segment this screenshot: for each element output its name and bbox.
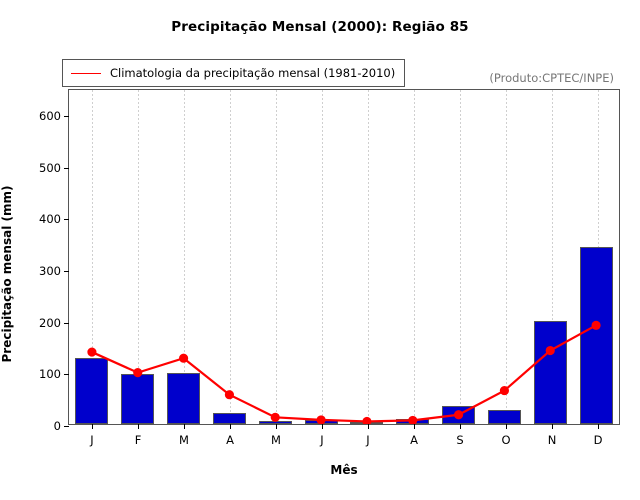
x-tick-mark <box>92 424 93 429</box>
legend-item-label: Climatologia da precipitação mensal (198… <box>110 66 395 80</box>
y-tick-mark <box>64 116 69 117</box>
y-tick-label: 300 <box>1 264 69 278</box>
x-tick-label: N <box>532 433 572 447</box>
x-tick-label: J <box>348 433 388 447</box>
x-tick-label: S <box>440 433 480 447</box>
x-tick-label: A <box>210 433 250 447</box>
x-tick-mark <box>598 424 599 429</box>
y-tick-mark <box>64 219 69 220</box>
x-tick-mark <box>368 424 369 429</box>
x-tick-label: F <box>118 433 158 447</box>
x-tick-label: M <box>164 433 204 447</box>
climatology-point <box>454 410 463 419</box>
y-tick-label: 400 <box>1 212 69 226</box>
x-tick-label: J <box>72 433 112 447</box>
climatology-line-series <box>69 90 619 424</box>
x-tick-label: M <box>256 433 296 447</box>
climatology-point <box>500 386 509 395</box>
x-tick-mark <box>322 424 323 429</box>
y-tick-mark <box>64 426 69 427</box>
x-tick-mark <box>552 424 553 429</box>
x-tick-mark <box>138 424 139 429</box>
climatology-point <box>592 321 601 330</box>
x-tick-mark <box>184 424 185 429</box>
climatology-point <box>362 417 371 424</box>
climatology-point <box>408 416 417 424</box>
y-tick-mark <box>64 323 69 324</box>
y-tick-mark <box>64 271 69 272</box>
x-tick-mark <box>460 424 461 429</box>
legend-line-icon <box>71 73 101 74</box>
x-tick-mark <box>276 424 277 429</box>
climatology-point <box>546 346 555 355</box>
climatology-point <box>271 413 280 422</box>
y-tick-label: 100 <box>1 367 69 381</box>
credit-annotation: (Produto:CPTEC/INPE) <box>489 71 614 85</box>
x-axis-title: Mês <box>68 463 620 477</box>
x-tick-label: O <box>486 433 526 447</box>
climatology-svg <box>69 90 619 424</box>
y-tick-label: 600 <box>1 109 69 123</box>
y-tick-label: 200 <box>1 316 69 330</box>
y-tick-label: 500 <box>1 161 69 175</box>
y-tick-mark <box>64 374 69 375</box>
x-tick-label: J <box>302 433 342 447</box>
plot-area: JFMAMJJASOND0100200300400500600 <box>68 89 620 425</box>
climatology-polyline <box>92 325 596 421</box>
climatology-point <box>225 390 234 399</box>
chart-title: Precipitação Mensal (2000): Região 85 <box>0 19 640 35</box>
y-tick-mark <box>64 168 69 169</box>
chart-figure: Precipitação Mensal (2000): Região 85 Pr… <box>0 0 640 500</box>
legend: Climatologia da precipitação mensal (198… <box>62 59 405 87</box>
climatology-point <box>133 368 142 377</box>
x-tick-mark <box>506 424 507 429</box>
x-tick-label: A <box>394 433 434 447</box>
x-tick-mark <box>230 424 231 429</box>
climatology-point <box>87 347 96 356</box>
climatology-point <box>179 354 188 363</box>
climatology-point <box>317 415 326 424</box>
x-tick-mark <box>414 424 415 429</box>
x-tick-label: D <box>578 433 618 447</box>
y-tick-label: 0 <box>1 419 69 433</box>
